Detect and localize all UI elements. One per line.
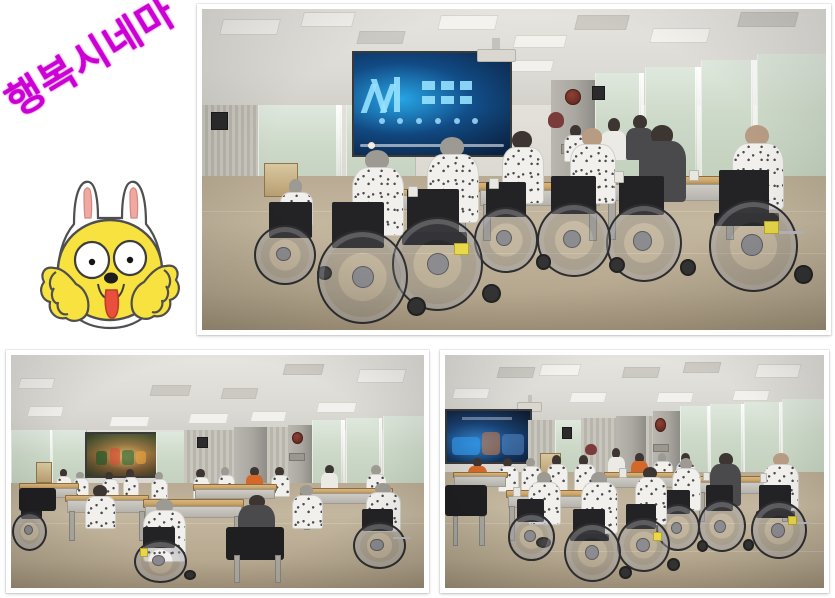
title-block: 행복시네마 bbox=[6, 8, 201, 168]
page-title: 행복시네마 bbox=[0, 0, 185, 128]
photo-image bbox=[445, 355, 824, 588]
photo-seminar-room-side-view bbox=[440, 350, 829, 593]
poster-canvas: 행복시네마 bbox=[0, 0, 835, 598]
photo-seminar-room-rear-view bbox=[6, 350, 429, 593]
photo-image bbox=[202, 9, 826, 330]
photo-seminar-room-wide-right-view bbox=[197, 4, 831, 335]
photo-image bbox=[11, 355, 424, 588]
rabbit-mascot-icon bbox=[34, 172, 186, 338]
